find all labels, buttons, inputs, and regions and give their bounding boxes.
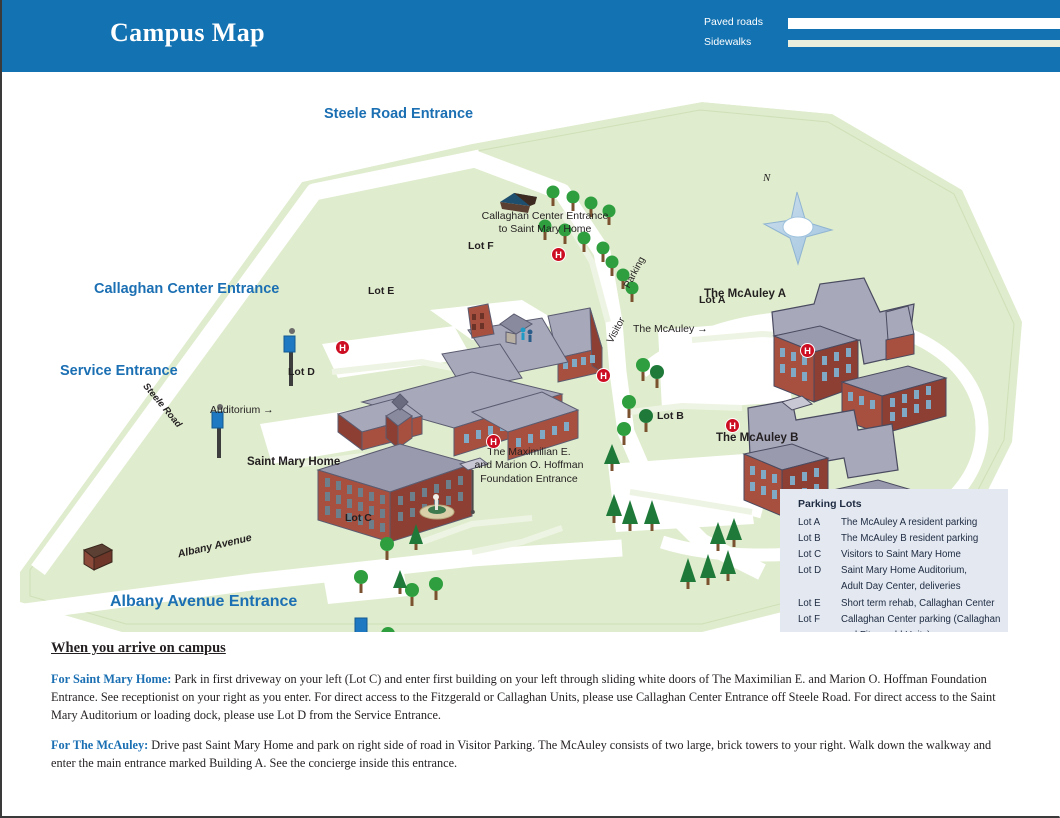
parking-legend-key-c: Lot C: [798, 549, 834, 560]
parking-legend-key-d: Lot D: [798, 565, 834, 576]
entrance-label-steele-road: Steele Road Entrance: [324, 106, 473, 122]
header-legend-paved-roads-label: Paved roads: [704, 16, 794, 28]
page-title: Campus Map: [110, 18, 265, 48]
note-hoffman-foundation-entrance: The Maximilian E. and Marion O. Hoffman …: [459, 446, 599, 486]
instructions-paragraph-mcauley: For The McAuley: Drive past Saint Mary H…: [51, 737, 1011, 773]
parking-legend-key-a: Lot A: [798, 517, 834, 528]
instructions-label-saint-mary-home: For Saint Mary Home:: [51, 672, 171, 686]
handicapped-marker-mcauley-b[interactable]: H: [725, 418, 740, 433]
parking-legend-value-d-line2: Adult Day Center, deliveries: [841, 581, 961, 592]
note-hoffman-line1: The Maximilian E.: [459, 446, 599, 459]
parking-legend-value-d: Saint Mary Home Auditorium,: [841, 565, 967, 576]
parking-lots-legend-title: Parking Lots: [798, 498, 862, 510]
parking-legend-value-f: Callaghan Center parking (Callaghan: [841, 614, 1000, 625]
parking-legend-value-b: The McAuley B resident parking: [841, 533, 978, 544]
entrance-label-callaghan-center: Callaghan Center Entrance: [94, 281, 279, 297]
handicapped-marker-hoffman[interactable]: H: [486, 434, 501, 449]
sidewalks-swatch: [788, 40, 1060, 47]
handicapped-marker-mcauley-a[interactable]: H: [800, 343, 815, 358]
arrival-instructions: When you arrive on campus For Saint Mary…: [2, 632, 1060, 816]
note-callaghan-line2: to Saint Mary Home: [480, 223, 610, 236]
map-lot-label-c: Lot C: [345, 512, 372, 524]
page-header: Campus Map Paved roads Sidewalks: [2, 0, 1060, 72]
note-callaghan-center-entrance: Callaghan Center Entrance to Saint Mary …: [480, 210, 610, 237]
note-hoffman-line2: and Marion O. Hoffman: [459, 459, 599, 472]
parking-legend-key-b: Lot B: [798, 533, 834, 544]
parking-legend-value-a: The McAuley A resident parking: [841, 517, 977, 528]
parking-legend-value-e: Short term rehab, Callaghan Center: [841, 598, 994, 609]
parking-legend-value-c: Visitors to Saint Mary Home: [841, 549, 961, 560]
map-wayfinding-mcauley: The McAuley →: [633, 323, 708, 335]
map-lot-label-e: Lot E: [368, 285, 394, 297]
map-building-label-mcauley-b: The McAuley B: [716, 432, 798, 444]
instructions-label-mcauley: For The McAuley:: [51, 738, 148, 752]
entrance-label-service: Service Entrance: [60, 363, 178, 379]
instructions-text-mcauley: Drive past Saint Mary Home and park on r…: [51, 738, 991, 770]
handicapped-marker-lot-d[interactable]: H: [335, 340, 350, 355]
map-lot-label-f: Lot F: [468, 240, 494, 252]
map-building-label-saint-mary-home: Saint Mary Home: [247, 456, 340, 468]
arrival-instructions-heading: When you arrive on campus: [51, 640, 226, 657]
header-legend-sidewalks-label: Sidewalks: [704, 36, 794, 48]
note-callaghan-line1: Callaghan Center Entrance: [480, 210, 610, 223]
map-building-label-mcauley-a: The McAuley A: [704, 288, 786, 300]
map-lot-label-d: Lot D: [288, 366, 315, 378]
note-hoffman-line3: Foundation Entrance: [459, 473, 599, 486]
paved-roads-swatch: [788, 18, 1060, 29]
campus-map-page: Campus Map Paved roads Sidewalks: [0, 0, 1060, 818]
handicapped-marker-lot-f[interactable]: H: [551, 247, 566, 262]
entrance-label-albany-avenue: Albany Avenue Entrance: [110, 593, 297, 611]
parking-legend-key-e: Lot E: [798, 598, 834, 609]
compass-north-label: N: [763, 172, 770, 184]
entry-sign-albany: [355, 618, 367, 632]
map-lot-label-b: Lot B: [657, 410, 684, 422]
handicapped-marker-visitor[interactable]: H: [596, 368, 611, 383]
instructions-paragraph-saint-mary-home: For Saint Mary Home: Park in first drive…: [51, 671, 1011, 725]
map-wayfinding-auditorium: Auditorium →: [210, 404, 274, 416]
instructions-text-saint-mary-home: Park in first driveway on your left (Lot…: [51, 672, 996, 722]
parking-legend-key-f: Lot F: [798, 614, 834, 625]
